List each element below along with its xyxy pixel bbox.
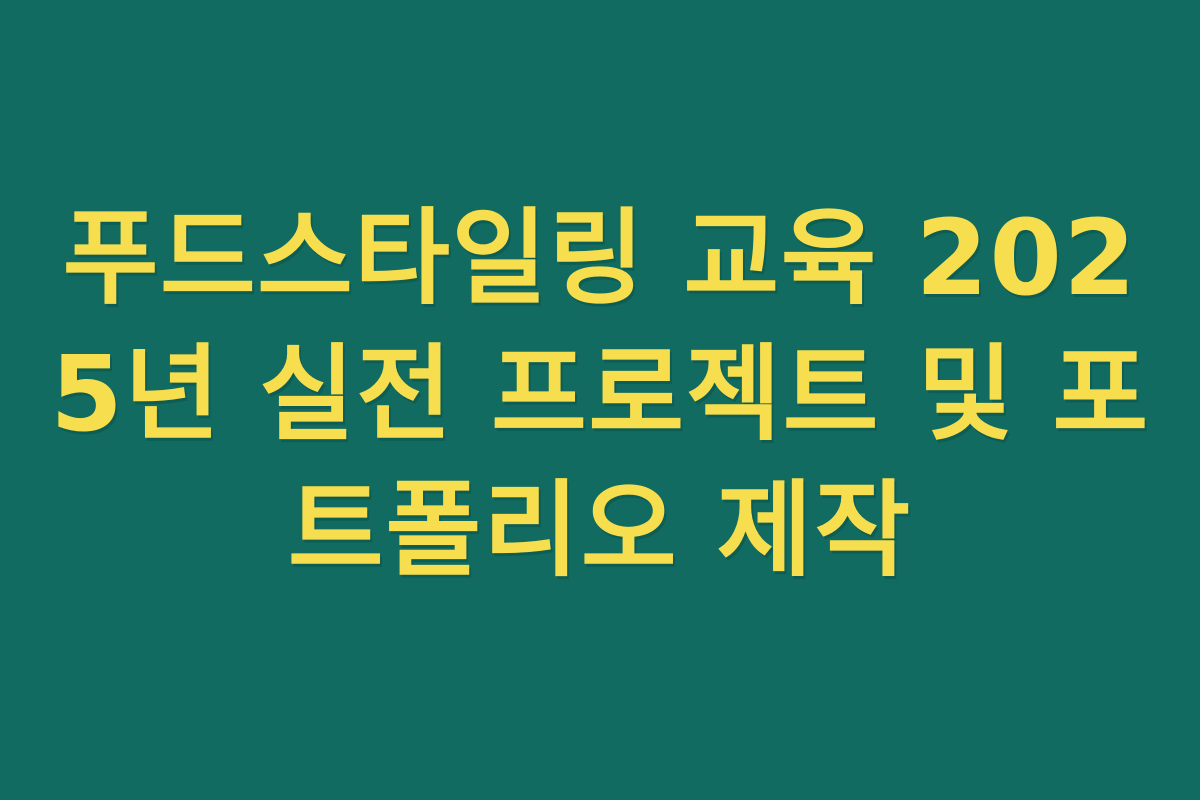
- title-card: 푸드스타일링 교육 202 5년 실전 프로젝트 및 포 트폴리오 제작: [0, 0, 1200, 800]
- page-title-line-1: 푸드스타일링 교육 202: [28, 190, 1172, 326]
- page-title-line-3: 트폴리오 제작: [28, 462, 1172, 598]
- page-title: 푸드스타일링 교육 202 5년 실전 프로젝트 및 포 트폴리오 제작: [0, 190, 1200, 598]
- page-title-line-2: 5년 실전 프로젝트 및 포: [28, 326, 1172, 462]
